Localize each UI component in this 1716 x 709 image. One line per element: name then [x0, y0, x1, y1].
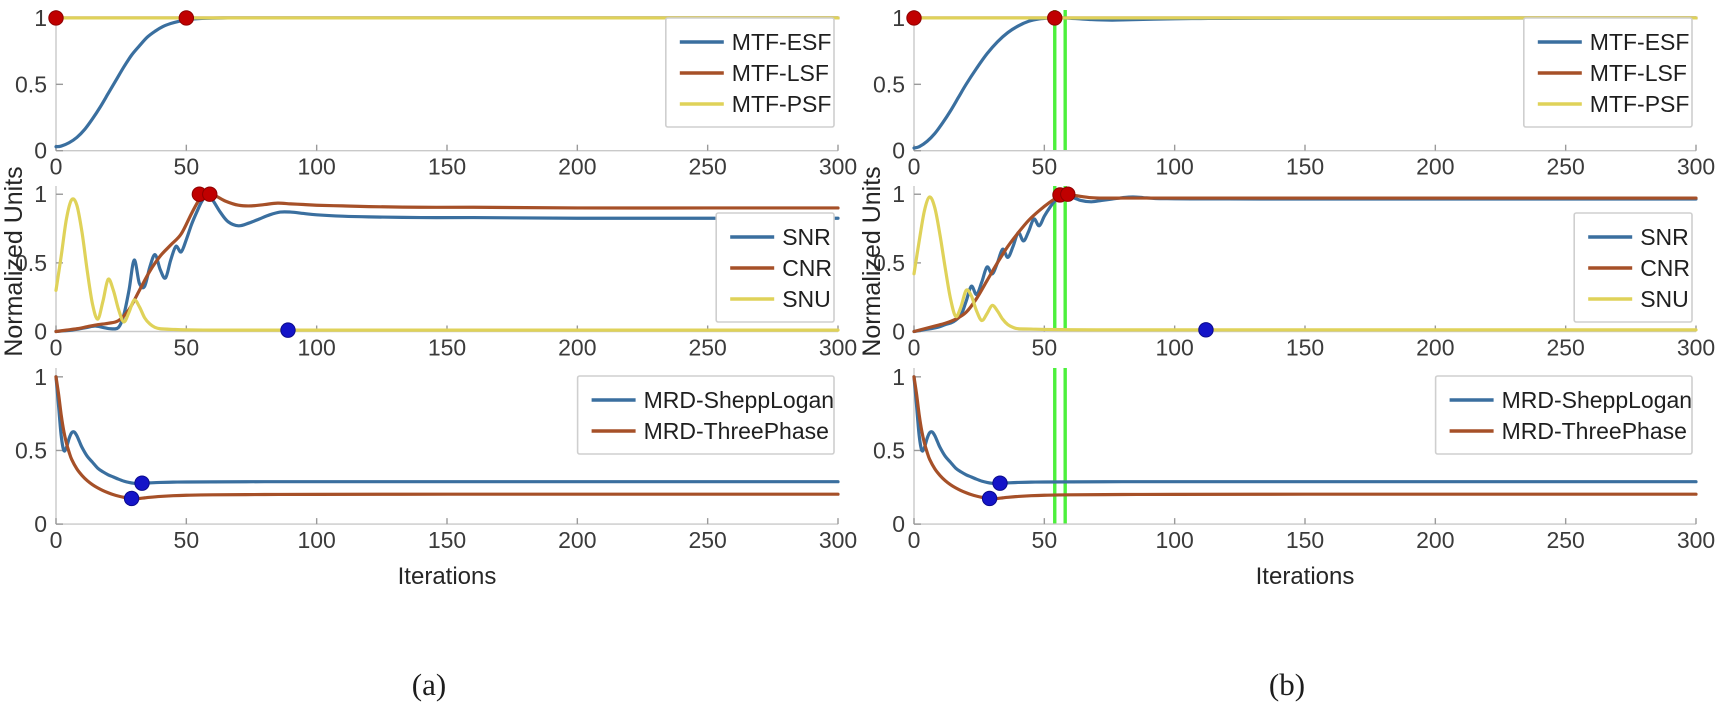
- x-tick-label: 300: [1677, 154, 1715, 180]
- plot-panel-b: 05010015020025030000.51MTF-ESFMTF-LSFMTF…: [858, 0, 1716, 709]
- optimum-marker-blue: [281, 323, 295, 337]
- x-tick-label: 250: [1546, 527, 1584, 553]
- legend-label: MTF-ESF: [1590, 29, 1690, 55]
- legend-label: MTF-ESF: [732, 29, 832, 55]
- x-tick-label: 300: [819, 335, 857, 361]
- y-tick-label: 0.5: [873, 71, 905, 97]
- subplot-mrd-row-b: 05010015020025030000.51MRD-SheppLoganMRD…: [873, 364, 1715, 590]
- legend-mtf-row: MTF-ESFMTF-LSFMTF-PSF: [666, 18, 834, 127]
- y-tick-label: 1: [892, 364, 905, 390]
- x-tick-label: 300: [819, 154, 857, 180]
- legend-label: SNU: [782, 286, 831, 312]
- x-tick-label: 0: [50, 527, 63, 553]
- x-tick-label: 200: [1416, 527, 1454, 553]
- x-axis-title: Iterations: [398, 563, 497, 590]
- y-tick-label: 0: [34, 319, 47, 345]
- y-tick-label: 1: [892, 181, 905, 207]
- x-tick-label: 200: [558, 335, 596, 361]
- subplot-mrd-row-a: 05010015020025030000.51MRD-SheppLoganMRD…: [15, 364, 857, 590]
- x-tick-label: 100: [297, 335, 335, 361]
- x-tick-label: 0: [908, 154, 921, 180]
- y-tick-label: 1: [34, 364, 47, 390]
- y-tick-label: 0: [34, 511, 47, 537]
- x-tick-label: 0: [908, 335, 921, 361]
- x-tick-label: 150: [428, 154, 466, 180]
- plot-panel-a: 05010015020025030000.51MTF-ESFMTF-LSFMTF…: [0, 0, 858, 709]
- x-tick-label: 200: [558, 527, 596, 553]
- x-tick-label: 250: [1546, 154, 1584, 180]
- legend-label: MRD-SheppLogan: [1502, 387, 1693, 413]
- legend-label: CNR: [782, 255, 832, 281]
- y-axis-title: Normalized Units: [0, 166, 28, 356]
- x-tick-label: 0: [908, 527, 921, 553]
- x-tick-label: 0: [50, 154, 63, 180]
- legend-label: MTF-PSF: [732, 91, 832, 117]
- optimum-marker-blue: [982, 491, 996, 505]
- x-tick-label: 50: [1032, 335, 1058, 361]
- peak-marker-red: [179, 11, 193, 25]
- legend-label: MRD-ThreePhase: [1502, 418, 1687, 444]
- x-tick-label: 100: [1155, 335, 1193, 361]
- legend-label: MTF-LSF: [732, 60, 829, 86]
- y-tick-label: 1: [892, 5, 905, 31]
- x-tick-label: 250: [688, 527, 726, 553]
- legend-label: CNR: [1640, 255, 1690, 281]
- y-tick-label: 0.5: [15, 71, 47, 97]
- x-tick-label: 300: [1677, 527, 1715, 553]
- subfigure-caption-b: (b): [858, 667, 1716, 703]
- x-tick-label: 200: [1416, 154, 1454, 180]
- peak-marker-red: [203, 187, 217, 201]
- x-tick-label: 50: [174, 154, 200, 180]
- x-tick-label: 300: [819, 527, 857, 553]
- legend-label: MRD-SheppLogan: [644, 387, 835, 413]
- optimum-marker-blue: [124, 491, 138, 505]
- x-tick-label: 100: [1155, 154, 1193, 180]
- peak-marker-red: [1048, 11, 1062, 25]
- x-tick-label: 0: [50, 335, 63, 361]
- legend-label: MRD-ThreePhase: [644, 418, 829, 444]
- subfigure-caption-a: (a): [0, 667, 858, 703]
- subplot-mtf-row-a: 05010015020025030000.51MTF-ESFMTF-LSFMTF…: [15, 5, 857, 180]
- x-tick-label: 150: [1286, 154, 1324, 180]
- y-tick-label: 0.5: [873, 437, 905, 463]
- subplot-snr-row-b: 05010015020025030000.51SNRCNRSNU: [873, 181, 1715, 360]
- x-tick-label: 50: [1032, 527, 1058, 553]
- y-tick-label: 0: [892, 511, 905, 537]
- subplot-snr-row-a: 05010015020025030000.51SNRCNRSNU: [15, 181, 857, 360]
- y-tick-label: 0.5: [15, 437, 47, 463]
- legend-label: SNR: [782, 224, 831, 250]
- optimum-marker-blue: [1199, 323, 1213, 337]
- x-tick-label: 150: [1286, 527, 1324, 553]
- y-tick-label: 1: [34, 181, 47, 207]
- x-tick-label: 100: [297, 154, 335, 180]
- optimum-marker-blue: [135, 476, 149, 490]
- legend-mrd-row: MRD-SheppLoganMRD-ThreePhase: [578, 376, 835, 454]
- legend-snr-row: SNRCNRSNU: [716, 213, 834, 322]
- legend-mrd-row: MRD-SheppLoganMRD-ThreePhase: [1436, 376, 1693, 454]
- x-tick-label: 200: [558, 154, 596, 180]
- x-tick-label: 100: [297, 527, 335, 553]
- peak-marker-red: [1061, 187, 1075, 201]
- x-tick-label: 150: [1286, 335, 1324, 361]
- panel-b-canvas: 05010015020025030000.51MTF-ESFMTF-LSFMTF…: [858, 0, 1716, 709]
- x-tick-label: 250: [1546, 335, 1584, 361]
- y-tick-label: 0: [892, 319, 905, 345]
- figure-root: 05010015020025030000.51MTF-ESFMTF-LSFMTF…: [0, 0, 1716, 709]
- subplot-mtf-row-b: 05010015020025030000.51MTF-ESFMTF-LSFMTF…: [873, 5, 1715, 180]
- x-tick-label: 100: [1155, 527, 1193, 553]
- legend-mtf-row: MTF-ESFMTF-LSFMTF-PSF: [1524, 18, 1692, 127]
- x-axis-title: Iterations: [1256, 563, 1355, 590]
- peak-marker-red: [907, 11, 921, 25]
- optimum-marker-blue: [993, 476, 1007, 490]
- x-tick-label: 250: [688, 335, 726, 361]
- panel-a-canvas: 05010015020025030000.51MTF-ESFMTF-LSFMTF…: [0, 0, 858, 709]
- peak-marker-red: [49, 11, 63, 25]
- legend-label: MTF-LSF: [1590, 60, 1687, 86]
- y-tick-label: 1: [34, 5, 47, 31]
- x-tick-label: 250: [688, 154, 726, 180]
- x-tick-label: 200: [1416, 335, 1454, 361]
- y-axis-title: Normalized Units: [858, 166, 886, 356]
- x-tick-label: 150: [428, 527, 466, 553]
- legend-label: SNU: [1640, 286, 1689, 312]
- x-tick-label: 300: [1677, 335, 1715, 361]
- x-tick-label: 50: [174, 527, 200, 553]
- legend-label: MTF-PSF: [1590, 91, 1690, 117]
- x-tick-label: 50: [1032, 154, 1058, 180]
- y-tick-label: 0: [34, 138, 47, 164]
- x-tick-label: 50: [174, 335, 200, 361]
- legend-snr-row: SNRCNRSNU: [1574, 213, 1692, 322]
- legend-label: SNR: [1640, 224, 1689, 250]
- y-tick-label: 0: [892, 138, 905, 164]
- x-tick-label: 150: [428, 335, 466, 361]
